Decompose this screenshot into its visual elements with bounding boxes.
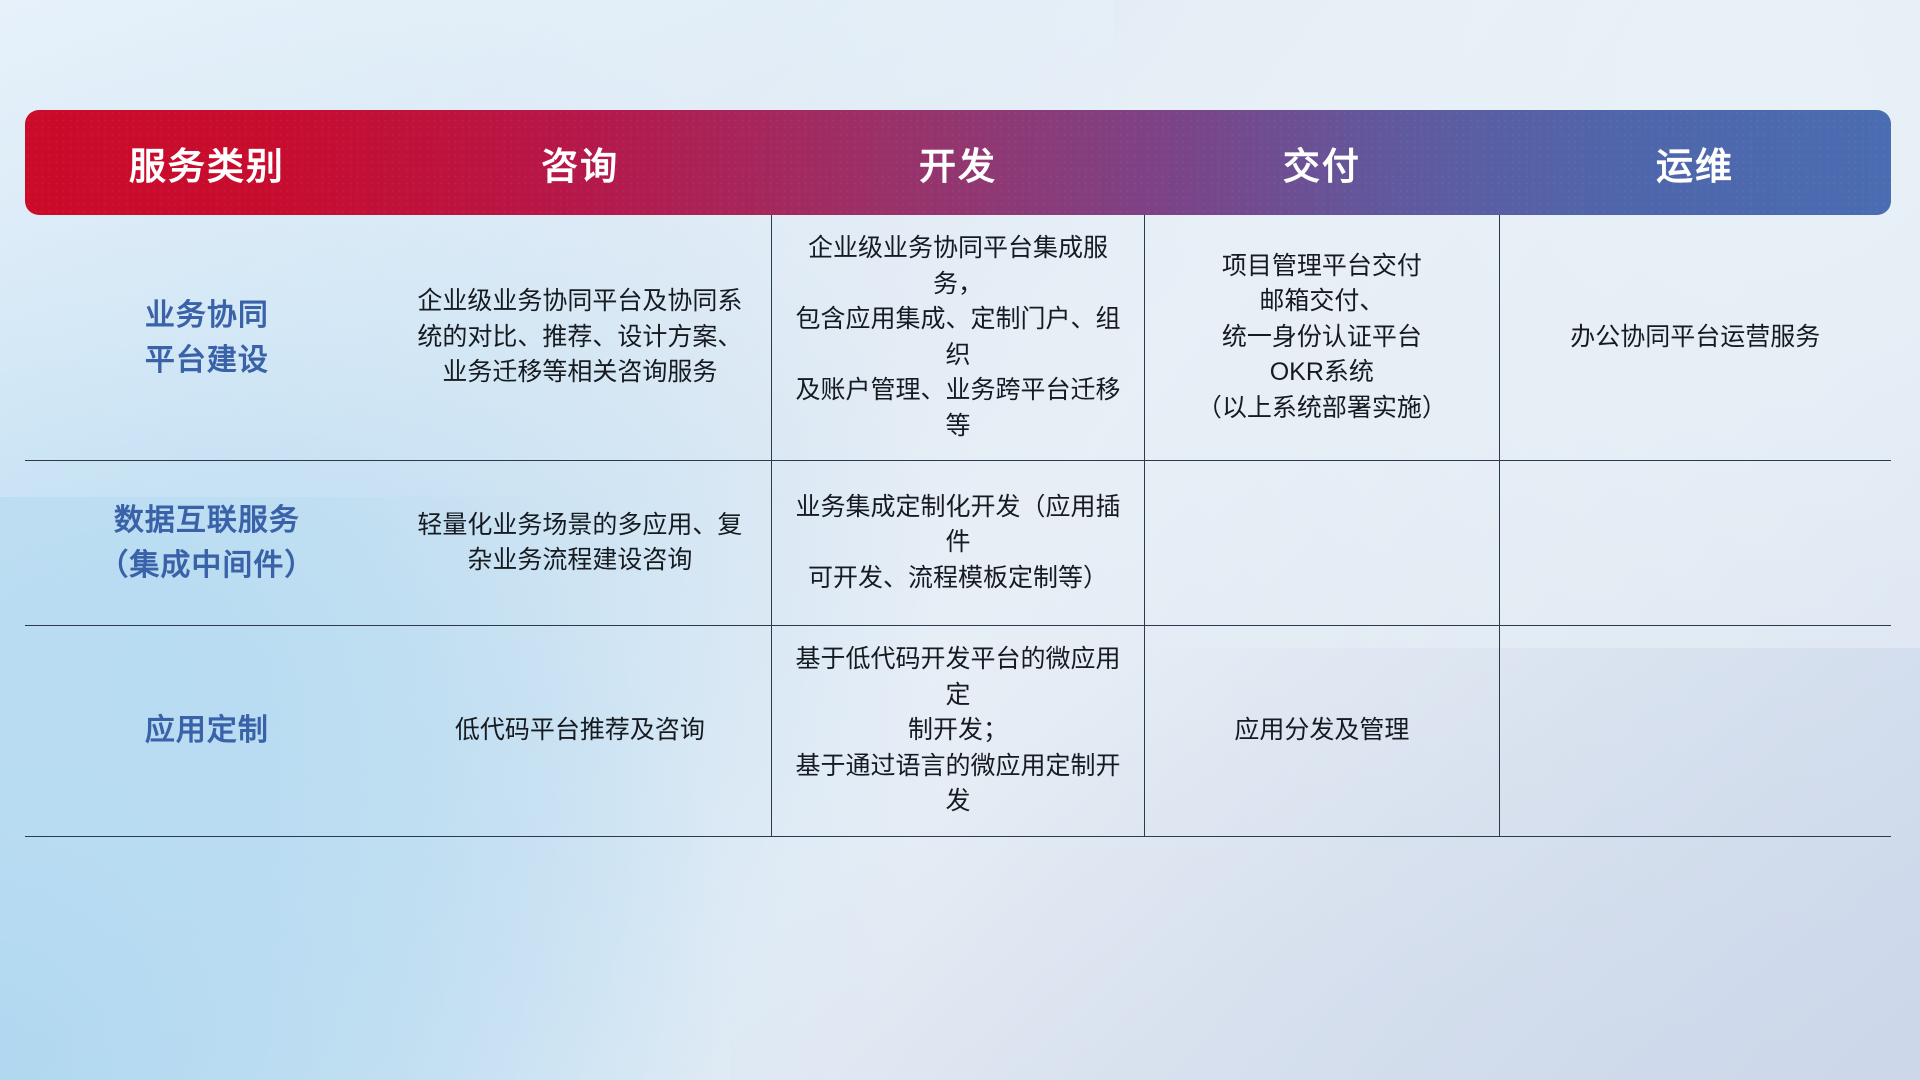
cell-text: 轻量化业务场景的多应用、复 杂业务流程建设咨询 — [417, 511, 742, 575]
cell-text: 低代码平台推荐及咨询 — [455, 716, 705, 744]
row-label-text: 业务协同 平台建设 — [145, 299, 269, 377]
cell-development-row1: 企业级业务协同平台集成服务， 包含应用集成、定制门户、组织 及账户管理、业务跨平… — [771, 215, 1144, 461]
table-row: 应用定制 低代码平台推荐及咨询 基于低代码开发平台的微应用定 制开发； 基于通过… — [25, 626, 1891, 837]
cell-text: 企业级业务协同平台集成服务， 包含应用集成、定制门户、组织 及账户管理、业务跨平… — [795, 234, 1120, 440]
table-header: 服务类别 咨询 开发 交付 运维 — [25, 110, 1891, 215]
cell-delivery-row2 — [1145, 461, 1500, 626]
cell-consulting-row3: 低代码平台推荐及咨询 — [389, 626, 772, 837]
cell-text — [1514, 543, 1877, 544]
column-header-consulting: 咨询 — [389, 110, 772, 215]
cell-text: 项目管理平台交付 邮箱交付、 统一身份认证平台 OKR系统 （以上系统部署实施） — [1197, 252, 1447, 422]
cell-operations-row3 — [1499, 626, 1891, 837]
cell-development-row3: 基于低代码开发平台的微应用定 制开发； 基于通过语言的微应用定制开发 — [771, 626, 1144, 837]
column-header-consulting-label: 咨询 — [541, 136, 619, 190]
column-header-development-label: 开发 — [919, 136, 997, 190]
cell-text: 基于低代码开发平台的微应用定 制开发； 基于通过语言的微应用定制开发 — [795, 645, 1120, 815]
column-header-delivery: 交付 — [1145, 110, 1500, 215]
cell-text: 业务集成定制化开发（应用插件 可开发、流程模板定制等） — [795, 493, 1120, 592]
cell-consulting-row2: 轻量化业务场景的多应用、复 杂业务流程建设咨询 — [389, 461, 772, 626]
cell-development-row2: 业务集成定制化开发（应用插件 可开发、流程模板定制等） — [771, 461, 1144, 626]
table-header-row: 服务类别 咨询 开发 交付 运维 — [25, 110, 1891, 215]
cell-delivery-row1: 项目管理平台交付 邮箱交付、 统一身份认证平台 OKR系统 （以上系统部署实施） — [1145, 215, 1500, 461]
column-header-delivery-label: 交付 — [1283, 136, 1361, 190]
row-label-text: 数据互联服务 （集成中间件） — [98, 504, 315, 582]
cell-text — [1159, 543, 1485, 544]
table-row: 业务协同 平台建设 企业级业务协同平台及协同系 统的对比、推荐、设计方案、 业务… — [25, 215, 1891, 461]
service-matrix-table-container: 服务类别 咨询 开发 交付 运维 业务协同 平台建设 — [25, 110, 1891, 837]
column-header-operations: 运维 — [1499, 110, 1891, 215]
row-label-business-collaboration-platform: 业务协同 平台建设 — [25, 215, 389, 461]
cell-text: 企业级业务协同平台及协同系 统的对比、推荐、设计方案、 业务迁移等相关咨询服务 — [417, 287, 742, 386]
column-header-operations-label: 运维 — [1656, 136, 1734, 190]
column-header-category-label: 服务类别 — [129, 136, 285, 190]
cell-operations-row2 — [1499, 461, 1891, 626]
row-label-application-customization: 应用定制 — [25, 626, 389, 837]
service-matrix-table: 服务类别 咨询 开发 交付 运维 业务协同 平台建设 — [25, 110, 1891, 837]
table-body: 业务协同 平台建设 企业级业务协同平台及协同系 统的对比、推荐、设计方案、 业务… — [25, 215, 1891, 836]
row-label-text: 应用定制 — [145, 714, 269, 747]
cell-delivery-row3: 应用分发及管理 — [1145, 626, 1500, 837]
column-header-category: 服务类别 — [25, 110, 389, 215]
cell-text: 应用分发及管理 — [1234, 716, 1409, 744]
cell-consulting-row1: 企业级业务协同平台及协同系 统的对比、推荐、设计方案、 业务迁移等相关咨询服务 — [389, 215, 772, 461]
row-label-data-interconnect-service: 数据互联服务 （集成中间件） — [25, 461, 389, 626]
table-row: 数据互联服务 （集成中间件） 轻量化业务场景的多应用、复 杂业务流程建设咨询 业… — [25, 461, 1891, 626]
cell-operations-row1: 办公协同平台运营服务 — [1499, 215, 1891, 461]
cell-text: 办公协同平台运营服务 — [1570, 323, 1820, 351]
cell-text — [1514, 730, 1877, 731]
column-header-development: 开发 — [771, 110, 1144, 215]
